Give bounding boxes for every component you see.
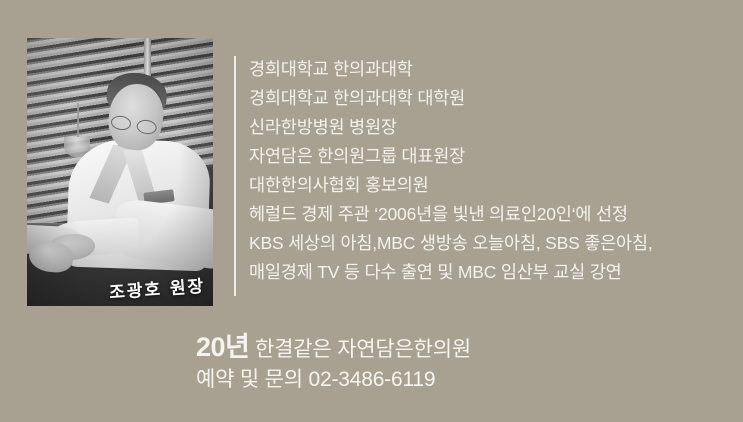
credential-line: 매일경제 TV 등 다수 출연 및 MBC 임산부 교실 강연 bbox=[249, 258, 729, 287]
contact-phone[interactable]: 예약 및 문의 02-3486-6119 bbox=[196, 365, 716, 395]
credential-line: 경희대학교 한의과대학 bbox=[249, 55, 729, 84]
tagline-text: 한결같은 자연담은한의원 bbox=[249, 338, 471, 361]
footer-block: 20년 한결같은 자연담은한의원 예약 및 문의 02-3486-6119 bbox=[196, 332, 716, 395]
vertical-divider bbox=[234, 56, 236, 296]
doctor-photo: 조광호 원장 bbox=[27, 38, 213, 306]
credential-line: 자연담은 한의원그룹 대표원장 bbox=[249, 142, 729, 171]
clinic-promo-banner: 조광호 원장 경희대학교 한의과대학 경희대학교 한의과대학 대학원 신라한방병… bbox=[0, 0, 743, 422]
clinic-tagline: 20년 한결같은 자연담은한의원 bbox=[196, 332, 716, 365]
credentials-list: 경희대학교 한의과대학 경희대학교 한의과대학 대학원 신라한방병원 병원장 자… bbox=[249, 55, 729, 287]
doctor-photo-image bbox=[27, 38, 213, 306]
years-emphasis: 20년 bbox=[196, 332, 249, 362]
credential-line: 경희대학교 한의과대학 대학원 bbox=[249, 84, 729, 113]
credential-line: 신라한방병원 병원장 bbox=[249, 113, 729, 142]
doctor-figure bbox=[27, 38, 213, 306]
credential-line: KBS 세상의 아침,MBC 생방송 오늘아침, SBS 좋은아침, bbox=[249, 229, 729, 258]
credential-line: 대한한의사협회 홍보의원 bbox=[249, 171, 729, 200]
credential-line: 헤럴드 경제 주관 ‘2006년을 빛낸 의료인20인‘에 선정 bbox=[249, 200, 729, 229]
